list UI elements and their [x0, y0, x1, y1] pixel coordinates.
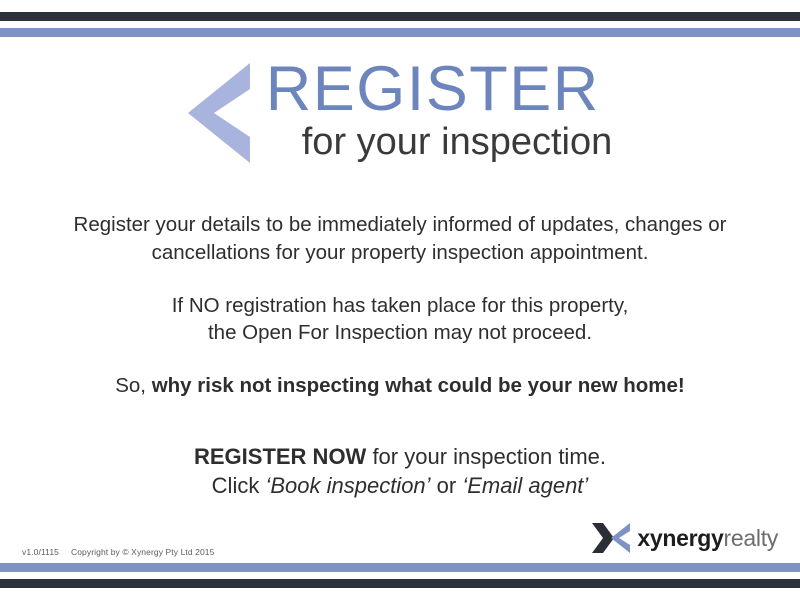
- top-dark-rule: [0, 12, 800, 21]
- top-rule-gap: [0, 21, 800, 28]
- bottom-rule-gap: [0, 572, 800, 579]
- top-blue-rule: [0, 28, 800, 37]
- paragraph-no-registration: If NO registration has taken place for t…: [50, 292, 750, 347]
- paragraph-updates: Register your details to be immediately …: [50, 211, 750, 266]
- footer-meta: v1.0/1115Copyright by © Xynergy Pty Ltd …: [22, 547, 214, 557]
- copyright-label: Copyright by © Xynergy Pty Ltd 2015: [71, 547, 214, 557]
- bottom-dark-rule: [0, 579, 800, 588]
- cta-click-prefix: Click: [212, 473, 266, 498]
- page-title: REGISTER: [266, 59, 600, 119]
- bottom-edge-spacer: [0, 588, 800, 600]
- paragraph-why-risk: So, why risk not inspecting what could b…: [50, 372, 750, 399]
- top-edge-spacer: [0, 0, 800, 12]
- chevron-left-icon: [188, 63, 250, 163]
- brand-name-bold: xynergy: [637, 525, 723, 551]
- brand-logo: xynergyrealty: [592, 523, 778, 553]
- cta-click-line: Click ‘Book inspection’ or ‘Email agent’: [50, 471, 750, 501]
- cta-register-now-label: REGISTER NOW: [194, 444, 366, 469]
- why-risk-lead: So,: [115, 374, 151, 397]
- cta-email-agent-option: ‘Email agent’: [462, 473, 588, 498]
- cta-book-inspection-option: ‘Book inspection’: [265, 473, 430, 498]
- masthead: REGISTER for your inspection: [188, 59, 613, 163]
- bottom-blue-rule: [0, 563, 800, 572]
- brand-name-light: realty: [724, 525, 778, 551]
- cta-click-middle: or: [431, 473, 463, 498]
- poster-page: REGISTER for your inspection Register yo…: [0, 0, 800, 600]
- call-to-action: REGISTER NOW for your inspection time. C…: [50, 442, 750, 501]
- version-label: v1.0/1115: [22, 547, 59, 557]
- body-copy: Register your details to be immediately …: [50, 211, 750, 399]
- page-subtitle: for your inspection: [302, 123, 613, 163]
- cta-register-now-rest: for your inspection time.: [366, 444, 606, 469]
- poster-content: REGISTER for your inspection Register yo…: [0, 37, 800, 563]
- masthead-text: REGISTER for your inspection: [266, 59, 613, 163]
- why-risk-bold: why risk not inspecting what could be yo…: [152, 374, 685, 397]
- cta-register-now-line: REGISTER NOW for your inspection time.: [50, 442, 750, 472]
- xynergy-x-logo-icon: [592, 523, 630, 553]
- brand-wordmark: xynergyrealty: [637, 527, 778, 550]
